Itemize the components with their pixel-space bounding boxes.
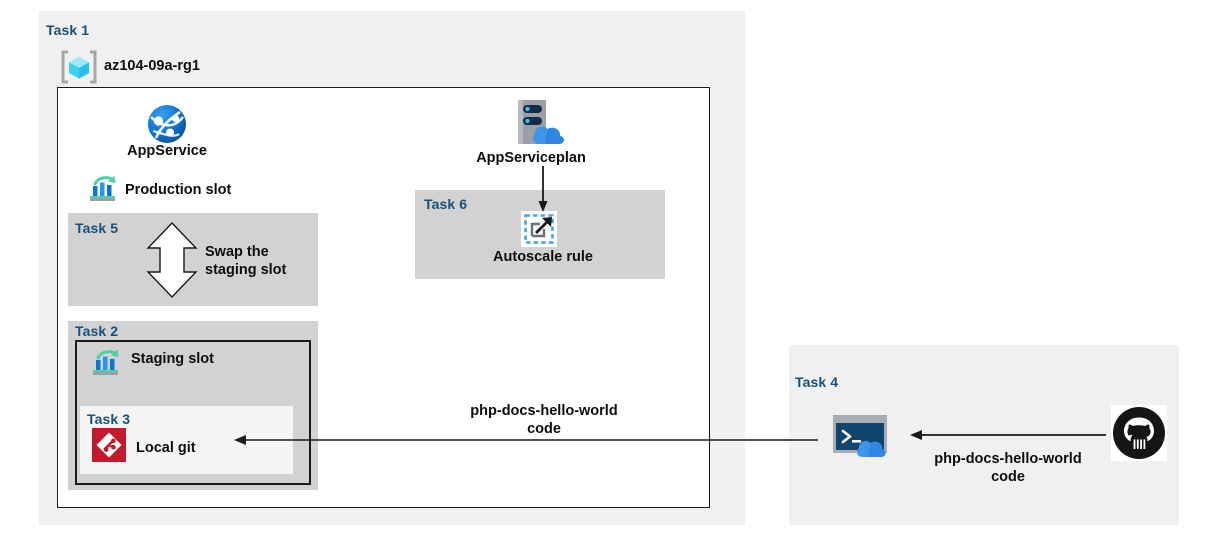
app-service-name: AppService [127,142,207,160]
git-push-label-line1: php-docs-hello-world [470,402,617,420]
local-git-label: Local git [136,439,196,457]
deployment-slot-icon-staging [91,348,123,378]
github-icon [1111,405,1167,461]
git-icon [92,428,126,462]
staging-slot-label: Staging slot [131,350,214,368]
git-push-label-line2: code [527,420,561,438]
deployment-slot-icon-production [88,174,120,204]
swap-action-label-line1: Swap the [205,243,269,261]
task3-label: Task 3 [87,411,130,427]
app-service-plan-icon [512,98,574,148]
swap-action-label-line2: staging slot [205,261,286,279]
task4-label: Task 4 [795,374,838,390]
cloud-shell-icon [833,415,899,459]
task1-label: Task 1 [46,22,89,38]
diagram-canvas: Task 1 az104-09a-rg1 [0,0,1218,545]
github-to-shell-label-line1: php-docs-hello-world [934,450,1081,468]
task6-label: Task 6 [424,196,467,212]
app-service-globe-icon [147,104,187,144]
task5-label: Task 5 [75,220,118,236]
autoscale-rule-label: Autoscale rule [493,248,593,266]
app-service-plan-label: AppServiceplan [476,149,586,167]
swap-double-arrow-icon [146,222,198,298]
github-to-shell-label-line2: code [991,468,1025,486]
resource-group-name: az104-09a-rg1 [104,57,200,75]
task2-label: Task 2 [75,323,118,339]
resource-group-icon [60,50,98,84]
autoscale-icon [521,211,557,247]
production-slot-label: Production slot [125,181,231,199]
